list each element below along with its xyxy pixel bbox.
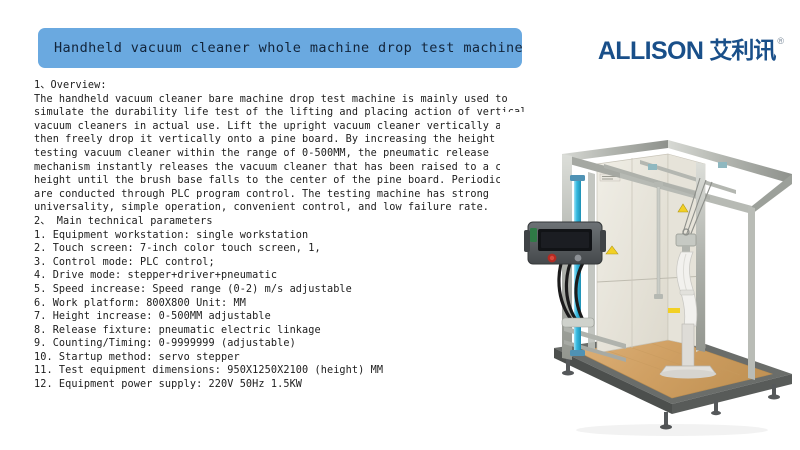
overview-line: universality, simple operation, convenie…	[34, 201, 539, 215]
parameter-item: 5. Speed increase: Speed range (0-2) m/s…	[34, 283, 539, 297]
title-banner: Handheld vacuum cleaner whole machine dr…	[38, 28, 522, 68]
overview-line: testing vacuum cleaner within the range …	[34, 147, 539, 161]
parameter-item: 4. Drive mode: stepper+driver+pneumatic	[34, 269, 539, 283]
parameter-item: 8. Release fixture: pneumatic electric l…	[34, 324, 539, 338]
page-title: Handheld vacuum cleaner whole machine dr…	[54, 40, 523, 56]
bearing-block	[648, 164, 657, 170]
overview-line: height until the brush base falls to the…	[34, 174, 539, 188]
caution-strip	[668, 308, 680, 313]
overview-line: then freely drop it vertically onto a pi…	[34, 133, 539, 147]
company-logo: ALLISON 艾利讯 ®	[598, 38, 784, 68]
cylinder-cap-bottom	[570, 350, 585, 356]
overview-line: vacuum cleaners in actual use. Lift the …	[34, 120, 539, 134]
parameters-heading: 2、 Main technical parameters	[34, 215, 539, 229]
start-button	[575, 255, 582, 262]
photo-shadow	[576, 424, 768, 436]
bearing-block	[718, 162, 727, 168]
panel-grip	[600, 230, 606, 252]
parameter-item: 9. Counting/Timing: 0-9999999 (adjustabl…	[34, 337, 539, 351]
parameter-item: 6. Work platform: 800X800 Unit: MM	[34, 297, 539, 311]
parameter-item: 11. Test equipment dimensions: 950X1250X…	[34, 364, 539, 378]
cable-clamp	[562, 318, 594, 327]
parameter-item: 7. Height increase: 0-500MM adjustable	[34, 310, 539, 324]
power-switch	[530, 228, 537, 242]
parameter-item: 2. Touch screen: 7-inch color touch scre…	[34, 242, 539, 256]
overview-line: The handheld vacuum cleaner bare machine…	[34, 93, 539, 107]
overview-heading: 1、Overview:	[34, 79, 539, 93]
spec-text-block: 1、Overview: The handheld vacuum cleaner …	[34, 79, 539, 392]
product-spec-page: Handheld vacuum cleaner whole machine dr…	[0, 0, 800, 450]
overview-line: mechanism instantly releases the vacuum …	[34, 161, 539, 175]
overview-line: are conducted through PLC program contro…	[34, 188, 539, 202]
panel-grip	[524, 230, 530, 252]
parameter-item: 10. Startup method: servo stepper	[34, 351, 539, 365]
registered-trademark-icon: ®	[777, 36, 784, 46]
front-post	[748, 206, 755, 380]
machine-photo	[500, 112, 800, 448]
logo-wordmark: ALLISON	[598, 38, 704, 64]
parameter-item: 1. Equipment workstation: single worksta…	[34, 229, 539, 243]
logo-chinese-name: 艾利讯	[709, 38, 775, 64]
parameter-item: 12. Equipment power supply: 220V 50Hz 1.…	[34, 378, 539, 392]
cylinder-cap-top	[570, 175, 585, 181]
overview-line: simulate the durability life test of the…	[34, 106, 539, 120]
hmi-touch-panel	[524, 222, 606, 264]
parameter-item: 3. Control mode: PLC control;	[34, 256, 539, 270]
